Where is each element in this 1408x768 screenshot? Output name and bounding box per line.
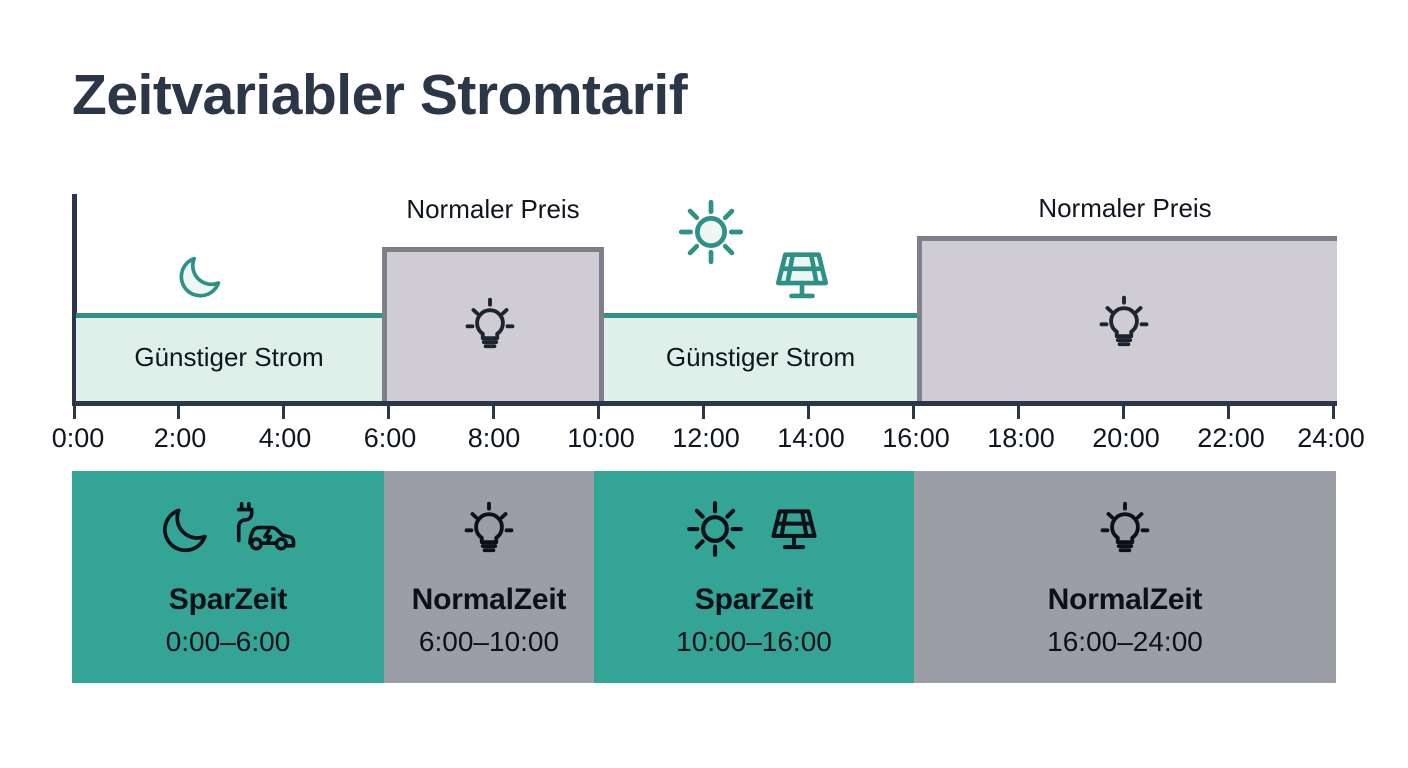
lightbulb-icon: [458, 498, 520, 565]
x-axis-tick-label: 10:00: [567, 423, 635, 454]
x-axis-tick: [387, 406, 390, 419]
x-axis-tick: [1122, 406, 1125, 419]
tariff-step-chart: Günstiger Strom Normaler Preis Günstiger…: [0, 0, 1408, 470]
x-axis-tick-label: 22:00: [1197, 423, 1265, 454]
legend-card-range: 10:00–16:00: [676, 626, 832, 658]
legend-icon-group: [157, 493, 299, 569]
solar-panel-icon: [765, 238, 839, 317]
moon-icon: [157, 501, 213, 562]
legend-icon-group: [458, 493, 520, 569]
legend-card-range: 6:00–10:00: [419, 626, 559, 658]
chart-label-normal-morning: Normaler Preis: [368, 194, 618, 225]
x-axis-tick: [177, 406, 180, 419]
x-axis-tick-label: 2:00: [154, 423, 207, 454]
x-axis-tick: [282, 406, 285, 419]
legend-card-title: NormalZeit: [1048, 583, 1203, 617]
sun-icon: [682, 496, 748, 567]
sun-icon: [673, 194, 749, 275]
moon-icon: [174, 250, 226, 307]
x-axis-tick: [807, 406, 810, 419]
x-axis-tick-label: 16:00: [882, 423, 950, 454]
x-axis-tick-label: 12:00: [672, 423, 740, 454]
legend-card-normalzeit-evening[interactable]: NormalZeit 16:00–24:00: [914, 471, 1336, 683]
x-axis-tick: [912, 406, 915, 419]
legend-card-title: SparZeit: [695, 583, 813, 617]
chart-label-cheap-night: Günstiger Strom: [76, 342, 382, 373]
legend-card-range: 16:00–24:00: [1047, 626, 1203, 658]
ev-car-charging-icon: [227, 499, 299, 564]
x-axis-tick: [1017, 406, 1020, 419]
x-axis-tick: [73, 406, 76, 419]
x-axis-tick-label: 14:00: [777, 423, 845, 454]
chart-label-cheap-day: Günstiger Strom: [604, 342, 917, 373]
legend-card-title: NormalZeit: [412, 583, 567, 617]
x-axis-tick-label: 24:00: [1297, 423, 1365, 454]
lightbulb-icon: [1094, 498, 1156, 565]
legend-icon-group: [1094, 493, 1156, 569]
lightbulb-icon: [459, 294, 521, 361]
x-axis-tick-label: 0:00: [52, 423, 105, 454]
legend-card-sparzeit-night[interactable]: SparZeit 0:00–6:00: [72, 471, 384, 683]
legend-card-sparzeit-day[interactable]: SparZeit 10:00–16:00: [594, 471, 914, 683]
solar-panel-icon: [762, 497, 826, 566]
x-axis-tick-label: 6:00: [364, 423, 417, 454]
tariff-legend: SparZeit 0:00–6:00 NormalZeit 6:00–10:00: [72, 471, 1336, 683]
legend-icon-group: [682, 493, 826, 569]
x-axis-tick: [1227, 406, 1230, 419]
legend-card-title: SparZeit: [169, 583, 287, 617]
x-axis-tick-label: 8:00: [468, 423, 521, 454]
x-axis-tick-label: 4:00: [259, 423, 312, 454]
x-axis-tick-label: 18:00: [987, 423, 1055, 454]
x-axis-tick: [597, 406, 600, 419]
x-axis-tick: [702, 406, 705, 419]
x-axis-tick: [1332, 406, 1335, 419]
x-axis-tick-label: 20:00: [1092, 423, 1160, 454]
lightbulb-icon: [1093, 292, 1155, 359]
x-axis-tick: [492, 406, 495, 419]
infographic-root: Zeitvariabler Stromtarif Günstiger Strom…: [0, 0, 1408, 768]
legend-card-range: 0:00–6:00: [166, 626, 291, 658]
legend-card-normalzeit-morning[interactable]: NormalZeit 6:00–10:00: [384, 471, 594, 683]
chart-label-normal-evening: Normaler Preis: [1000, 193, 1250, 224]
